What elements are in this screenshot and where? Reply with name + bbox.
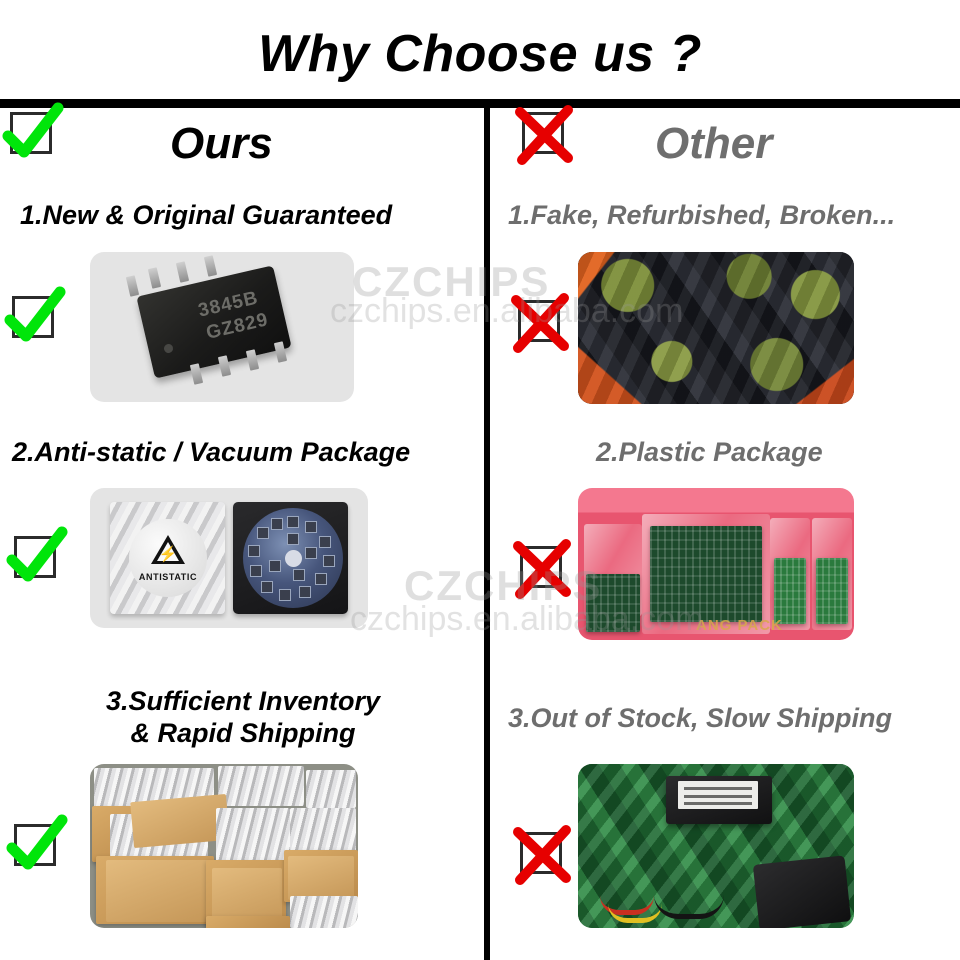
black-module bbox=[666, 776, 772, 824]
column-divider bbox=[484, 108, 490, 960]
check-mark-icon-row-3 bbox=[8, 818, 64, 874]
row-1-label-other: 1.Fake, Refurbished, Broken... bbox=[508, 200, 953, 232]
page-title: Why Choose us ? bbox=[0, 18, 960, 90]
row-1-image-ours: 3845B GZ829 bbox=[90, 252, 354, 402]
row-2-label-ours: 2.Anti-static / Vacuum Package bbox=[12, 437, 482, 469]
cross-mark-icon-row-3 bbox=[514, 826, 570, 882]
antistatic-bag-label: ANTISTATIC bbox=[129, 572, 207, 582]
check-glyph bbox=[8, 530, 64, 586]
pack-watermark-label: ANG PACK bbox=[696, 617, 783, 634]
column-header-ours-label: Ours bbox=[170, 119, 273, 169]
check-glyph bbox=[8, 818, 64, 874]
row-2-image-ours: ⚡ ANTISTATIC bbox=[90, 488, 368, 628]
cross-mark-icon-header bbox=[516, 106, 572, 162]
url-watermark-middle: czchips.en.alibaba.com bbox=[350, 600, 703, 639]
antistatic-bag: ⚡ ANTISTATIC bbox=[110, 502, 225, 614]
check-mark-icon-header bbox=[4, 106, 60, 162]
check-mark-icon-row-1 bbox=[6, 290, 62, 346]
row-3-label-ours: 3.Sufficient Inventory & Rapid Shipping bbox=[28, 686, 458, 750]
row-1-label-ours: 1.New & Original Guaranteed bbox=[20, 200, 475, 232]
row-3-image-other bbox=[578, 764, 854, 928]
row-3-label-other: 3.Out of Stock, Slow Shipping bbox=[508, 703, 956, 735]
check-glyph bbox=[6, 290, 62, 346]
url-watermark-top: czchips.en.alibaba.com bbox=[330, 292, 683, 331]
page-title-text: Why Choose us ? bbox=[258, 24, 702, 84]
lightning-bolt-icon: ⚡ bbox=[159, 547, 178, 562]
why-choose-us-infographic: Why Choose us ? Ours Other 1.New & Origi… bbox=[0, 0, 960, 960]
column-header-other-label: Other bbox=[655, 119, 772, 169]
cross-glyph bbox=[516, 106, 572, 162]
header-divider bbox=[0, 99, 960, 108]
row-2-label-other: 2.Plastic Package bbox=[596, 437, 956, 469]
row-3-image-ours bbox=[90, 764, 358, 928]
column-header-ours: Ours bbox=[0, 108, 484, 180]
cross-glyph bbox=[514, 826, 570, 882]
check-glyph bbox=[4, 106, 60, 162]
check-mark-icon-row-2 bbox=[8, 530, 64, 586]
tape-reel-tray bbox=[233, 502, 348, 614]
